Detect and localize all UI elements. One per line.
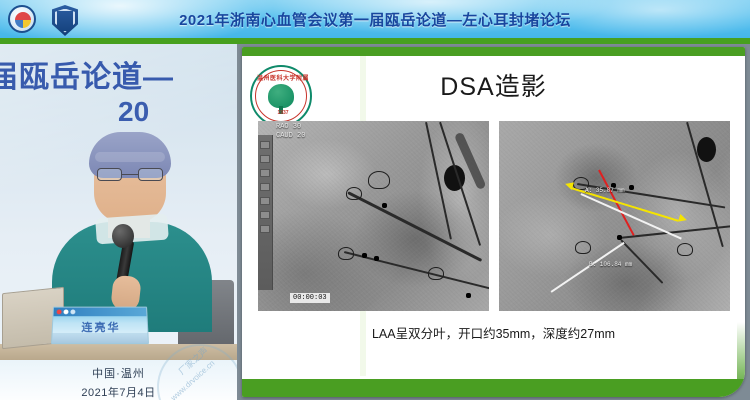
radiopaque-marker bbox=[362, 253, 367, 258]
slide-canvas: 温州医科大学附属 1937 DSA造影 RAO 30 CAUD 20 bbox=[242, 47, 745, 397]
microphone-head-icon bbox=[112, 224, 134, 248]
electrode-coil bbox=[575, 241, 591, 254]
slide-bottom-border bbox=[242, 379, 745, 397]
eyeglasses bbox=[97, 168, 163, 181]
electrode-coil bbox=[368, 171, 390, 189]
radiopaque-marker bbox=[617, 235, 622, 240]
electrode-coil bbox=[677, 243, 693, 256]
radiopaque-marker bbox=[629, 185, 634, 190]
placard-skyline bbox=[52, 333, 149, 343]
slide-top-border bbox=[242, 47, 745, 56]
dsa-angle-labels: RAO 30 CAUD 20 bbox=[276, 123, 305, 141]
name-placard: 连亮华 bbox=[51, 307, 149, 344]
hospital-logo-year: 1937 bbox=[252, 110, 314, 116]
slide-caption: LAA呈双分叶，开口约35mm，深度约27mm bbox=[242, 323, 745, 342]
radiopaque-marker bbox=[697, 137, 716, 162]
presentation-slide-panel[interactable]: 温州医科大学附属 1937 DSA造影 RAO 30 CAUD 20 bbox=[237, 44, 750, 400]
radiopaque-marker bbox=[382, 203, 387, 208]
dsa-image-right[interactable]: A: 35.87 mm B: 106.84 mm bbox=[499, 121, 730, 311]
backdrop-banner-line1: 届瓯岳论道— bbox=[0, 52, 174, 96]
dsa-image-left[interactable]: RAO 30 CAUD 20 bbox=[258, 121, 489, 311]
dsa-toolbar-strip bbox=[258, 135, 273, 290]
measurement-label-b: B: 106.84 mm bbox=[589, 261, 632, 268]
slide-right-border bbox=[737, 56, 745, 397]
speaker-video-panel[interactable]: 届瓯岳论道— 20 连亮华 中国·温州 2021年7月4日 bbox=[0, 44, 237, 400]
electrode-coil bbox=[338, 247, 354, 260]
radiopaque-marker bbox=[466, 293, 471, 298]
page-header: 2021年浙南心血管会议第一届瓯岳论道—左心耳封堵论坛 bbox=[0, 0, 750, 44]
conference-title: 2021年浙南心血管会议第一届瓯岳论道—左心耳封堵论坛 bbox=[0, 0, 750, 38]
dsa-image-group: RAO 30 CAUD 20 bbox=[258, 121, 730, 311]
dsa-timestamp: 00:00:03 bbox=[290, 293, 330, 303]
slide-title: DSA造影 bbox=[242, 67, 745, 103]
backdrop-banner-line2: 20 bbox=[118, 96, 149, 128]
placard-header-bar bbox=[53, 308, 148, 317]
electrode-coil bbox=[428, 267, 444, 280]
radiopaque-marker bbox=[374, 256, 379, 261]
measurement-label-a: A: 35.87 mm bbox=[585, 187, 625, 194]
electrode-coil bbox=[346, 187, 362, 200]
